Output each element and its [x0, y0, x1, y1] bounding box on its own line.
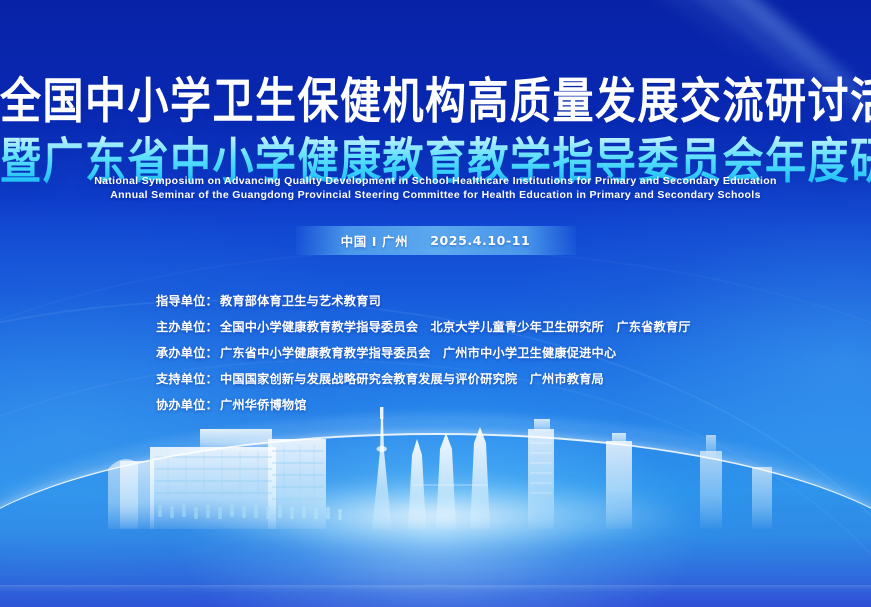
organization-value: 广州华侨博物馆: [220, 398, 307, 412]
conference-poster: 全国中小学卫生保健机构高质量发展交流研讨活动 暨广东省中小学健康教育教学指导委员…: [0, 0, 871, 607]
organization-row: 指导单位：教育部体育卫生与艺术教育司: [156, 288, 691, 314]
organization-value: 教育部体育卫生与艺术教育司: [220, 294, 381, 308]
title-line-primary: 全国中小学卫生保健机构高质量发展交流研讨活动: [0, 74, 871, 128]
event-date: 2025.4.10-11: [430, 233, 530, 248]
event-location: 中国 I 广州: [341, 231, 409, 250]
subtitle-line-1: National Symposium on Advancing Quality …: [0, 174, 871, 188]
event-location-date-badge: 中国 I 广州 2025.4.10-11: [296, 226, 576, 255]
organization-row: 协办单位：广州华侨博物馆: [156, 392, 691, 418]
organization-row: 主办单位：全国中小学健康教育教学指导委员会 北京大学儿童青少年卫生研究所 广东省…: [156, 314, 691, 340]
organization-label: 主办单位：: [156, 320, 218, 334]
organizations-list: 指导单位：教育部体育卫生与艺术教育司 主办单位：全国中小学健康教育教学指导委员会…: [156, 288, 691, 418]
organization-value: 广东省中小学健康教育教学指导委员会 广州市中小学卫生健康促进中心: [220, 346, 616, 360]
organization-row: 支持单位：中国国家创新与发展战略研究会教育发展与评价研究院 广州市教育局: [156, 366, 691, 392]
organization-row: 承办单位：广东省中小学健康教育教学指导委员会 广州市中小学卫生健康促进中心: [156, 340, 691, 366]
subtitle-line-2: Annual Seminar of the Guangdong Provinci…: [0, 188, 871, 202]
poster-subtitle: National Symposium on Advancing Quality …: [0, 174, 871, 202]
organization-label: 承办单位：: [156, 346, 218, 360]
organization-label: 协办单位：: [156, 398, 218, 412]
organization-value: 中国国家创新与发展战略研究会教育发展与评价研究院 广州市教育局: [220, 372, 604, 386]
organization-label: 指导单位：: [156, 294, 218, 308]
organization-value: 全国中小学健康教育教学指导委员会 北京大学儿童青少年卫生研究所 广东省教育厅: [220, 320, 691, 334]
poster-title: 全国中小学卫生保健机构高质量发展交流研讨活动 暨广东省中小学健康教育教学指导委员…: [0, 74, 871, 180]
organization-label: 支持单位：: [156, 372, 218, 386]
